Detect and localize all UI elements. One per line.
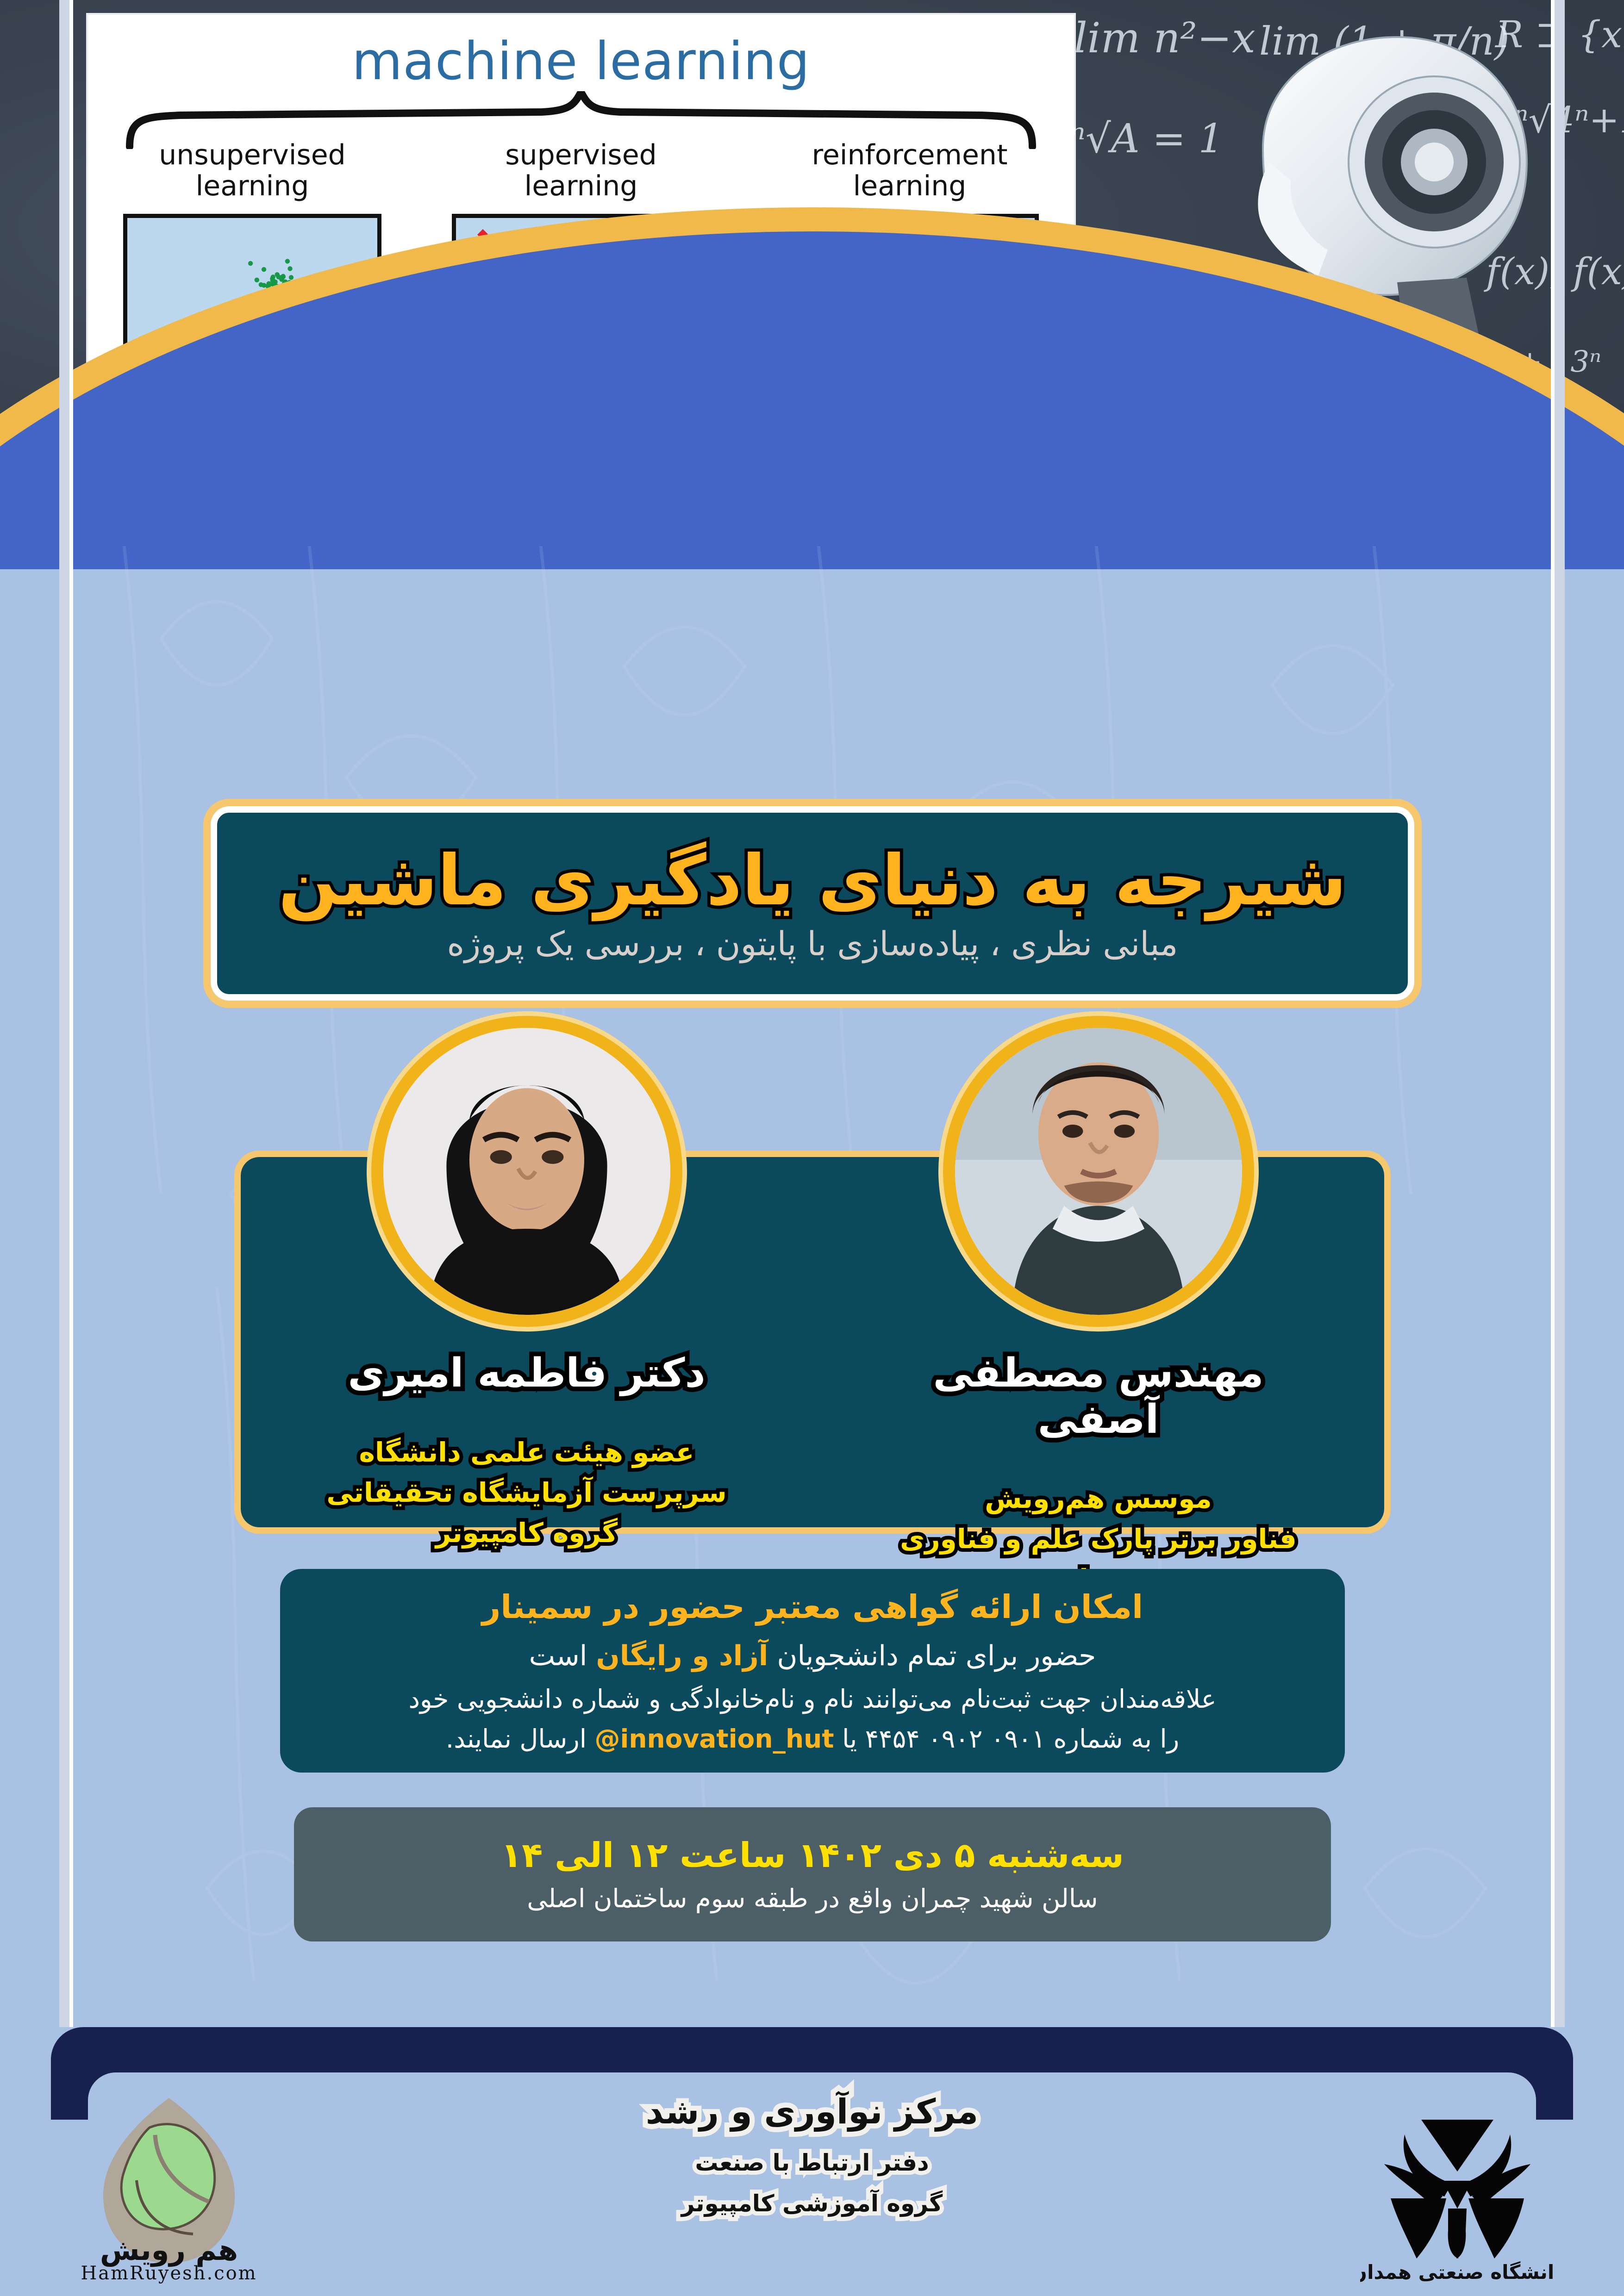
contact-post: ارسال نمایند. [446,1724,595,1754]
avatar [371,1016,682,1327]
hamruyesh-logo: هم رویش HamRuyesh.com [72,2085,266,2284]
speakers-row: مهندس مصطفی آصفی موسس هم‌رویش فناور برتر… [241,1016,1384,1599]
speaker-role-line-1: موسس هم‌رویش [867,1479,1330,1519]
event-datetime: سه‌شنبه ۵ دی ۱۴۰۲ ساعت ۱۲ الی ۱۴ [501,1836,1124,1875]
speaker-role-line-1: عضو هیئت علمی دانشگاه [295,1432,758,1473]
event-datetime-card: سه‌شنبه ۵ دی ۱۴۰۲ ساعت ۱۲ الی ۱۴ سالن شه… [294,1807,1331,1941]
hamedan-university-logo: دانشگاه صنعتی همدان [1360,2083,1555,2286]
event-venue: سالن شهید چمران واقع در طبقه سوم ساختمان… [527,1884,1098,1913]
free-admission-line: حضور برای تمام دانشجویان آزاد و رایگان ا… [529,1640,1096,1672]
poster-root: lim n²−x ⁿ√A = 1 {xₙ} ⊂ R ⁿ√4ⁿ+1 yₙ < zₙ… [0,0,1624,2296]
hamruyesh-name-en: HamRuyesh.com [81,2263,257,2284]
speaker-name: مهندس مصطفی آصفی [867,1350,1330,1443]
telegram-handle[interactable]: @innovation_hut [595,1724,834,1754]
speaker-card-amiri: دکتر فاطمه امیری عضو هیئت علمی دانشگاه س… [295,1016,758,1599]
speakers-card: مهندس مصطفی آصفی موسس هم‌رویش فناور برتر… [241,1157,1384,1527]
university-caption: دانشگاه صنعتی همدان [1360,2261,1555,2284]
speaker-name: دکتر فاطمه امیری [295,1350,758,1396]
registration-info-card: امکان ارائه گواهی معتبر حضور در سمینار ح… [280,1569,1345,1773]
category-unsupervised: unsupervised learning [88,140,417,202]
registration-instructions: علاقه‌مندان جهت ثبت‌نام می‌توانند نام و … [408,1684,1216,1714]
free-admission-pre: حضور برای تمام دانشجویان [768,1640,1096,1672]
category-supervised: supervised learning [417,140,745,202]
free-admission-post: است [529,1640,596,1672]
free-admission-highlight: آزاد و رایگان [596,1640,768,1672]
speaker-card-asefi: مهندس مصطفی آصفی موسس هم‌رویش فناور برتر… [867,1016,1330,1599]
hamruyesh-name-fa: هم رویش [100,2233,238,2267]
speaker-role-line-2: سرپرست آزمایشگاه تحقیقاتی گروه کامپیوتر [295,1473,758,1553]
page-subtitle: مبانی نظری ، پیاده‌سازی با پایتون ، بررس… [447,926,1178,962]
panel-gutter-right [1555,0,1565,2027]
diagram-category-row: unsupervised learning supervised learnin… [88,140,1074,202]
header-banner: lim n²−x ⁿ√A = 1 {xₙ} ⊂ R ⁿ√4ⁿ+1 yₙ < zₙ… [0,0,1624,569]
panel-rule-right [1551,0,1555,2027]
page-title: شیرجه به دنیای یادگیری ماشین [278,845,1346,918]
speaker-role: عضو هیئت علمی دانشگاه سرپرست آزمایشگاه ت… [295,1432,758,1553]
avatar [943,1016,1254,1327]
registration-contact-line: را به شماره ۰۹۰۱ ۰۹۰۲ ۴۴۵۴ یا @innovatio… [446,1724,1179,1754]
panel-gutter-left [59,0,69,2027]
diagram-title: machine learning [88,31,1074,92]
panel-rule-left [69,0,73,2027]
category-reinforcement: reinforcement learning [745,140,1074,202]
certificate-headline: امکان ارائه گواهی معتبر حضور در سمینار [482,1588,1143,1626]
seminar-title-card: شیرجه به دنیای یادگیری ماشین مبانی نظری … [211,806,1414,1001]
contact-pre: را به شماره ۰۹۰۱ ۰۹۰۲ ۴۴۵۴ یا [834,1724,1180,1754]
